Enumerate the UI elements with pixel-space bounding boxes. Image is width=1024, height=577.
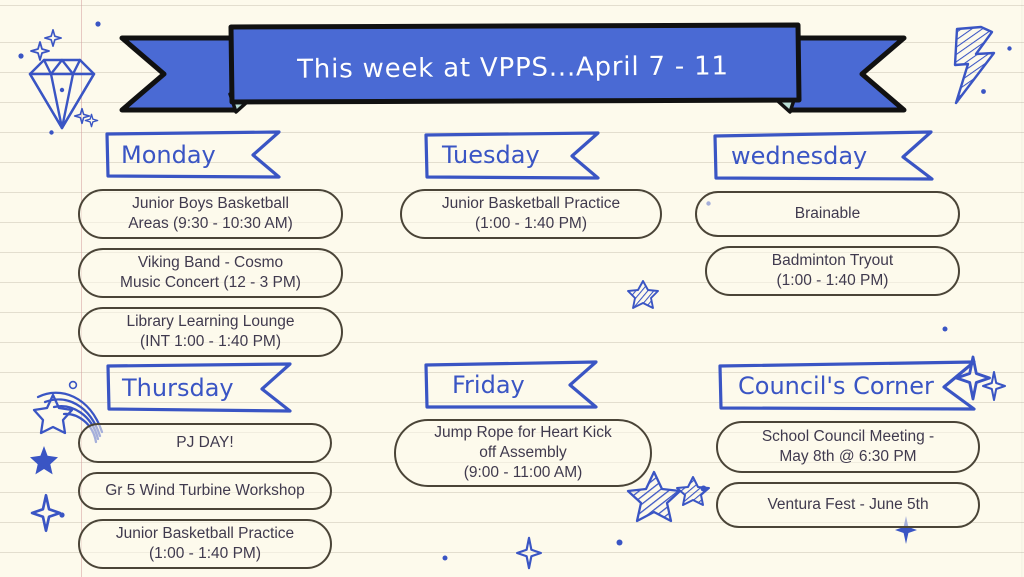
column-wednesday: wednesday Brainable Badminton Tryout (1:… bbox=[695, 130, 960, 305]
event-line: May 8th @ 6:30 PM bbox=[762, 447, 934, 467]
event-line: Viking Band - Cosmo bbox=[120, 253, 301, 273]
event-pill[interactable]: Jump Rope for Heart Kick off Assembly (9… bbox=[394, 419, 652, 487]
event-pill[interactable]: Gr 5 Wind Turbine Workshop bbox=[78, 472, 332, 510]
event-line: (1:00 - 1:40 PM) bbox=[116, 544, 294, 564]
event-line: Junior Basketball Practice bbox=[116, 524, 294, 544]
day-header-tuesday: Tuesday bbox=[422, 130, 602, 180]
day-header-friday: Friday bbox=[422, 360, 600, 410]
column-thursday: Thursday PJ DAY! Gr 5 Wind Turbine Works… bbox=[78, 362, 332, 577]
event-line: Gr 5 Wind Turbine Workshop bbox=[105, 481, 305, 501]
event-line: Library Learning Lounge bbox=[126, 312, 294, 332]
event-pill[interactable]: Viking Band - Cosmo Music Concert (12 - … bbox=[78, 248, 343, 298]
event-pill[interactable]: Junior Basketball Practice (1:00 - 1:40 … bbox=[400, 189, 662, 239]
day-header-label: Council's Corner bbox=[716, 360, 963, 412]
schedule-grid: Monday Junior Boys Basketball Areas (9:3… bbox=[0, 0, 1024, 577]
event-pill[interactable]: Badminton Tryout (1:00 - 1:40 PM) bbox=[705, 246, 960, 296]
event-line: (9:00 - 11:00 AM) bbox=[434, 463, 611, 483]
event-line: Brainable bbox=[795, 204, 861, 224]
event-line: PJ DAY! bbox=[176, 433, 233, 453]
event-pill[interactable]: Brainable bbox=[695, 191, 960, 237]
event-line: Jump Rope for Heart Kick bbox=[434, 423, 611, 443]
event-pill[interactable]: PJ DAY! bbox=[78, 423, 332, 463]
event-pill[interactable]: Junior Basketball Practice (1:00 - 1:40 … bbox=[78, 519, 332, 569]
column-tuesday: Tuesday Junior Basketball Practice (1:00… bbox=[400, 130, 662, 248]
event-line: Junior Basketball Practice bbox=[442, 194, 620, 214]
event-line: School Council Meeting - bbox=[762, 427, 934, 447]
event-line: Badminton Tryout bbox=[772, 251, 893, 271]
event-pill[interactable]: Library Learning Lounge (INT 1:00 - 1:40… bbox=[78, 307, 343, 357]
event-pill[interactable]: School Council Meeting - May 8th @ 6:30 … bbox=[716, 421, 980, 473]
day-header-thursday: Thursday bbox=[104, 362, 294, 414]
event-line: Music Concert (12 - 3 PM) bbox=[120, 273, 301, 293]
event-line: off Assembly bbox=[434, 443, 611, 463]
day-header-monday: Monday bbox=[103, 130, 283, 180]
day-header-label: Tuesday bbox=[422, 130, 592, 180]
day-header-councils-corner: Council's Corner bbox=[716, 360, 978, 412]
event-pill[interactable]: Junior Boys Basketball Areas (9:30 - 10:… bbox=[78, 189, 343, 239]
column-monday: Monday Junior Boys Basketball Areas (9:3… bbox=[78, 130, 343, 366]
column-friday: Friday Jump Rope for Heart Kick off Asse… bbox=[394, 360, 652, 496]
event-line: Junior Boys Basketball bbox=[128, 194, 293, 214]
day-header-wednesday: wednesday bbox=[711, 130, 936, 182]
event-line: (1:00 - 1:40 PM) bbox=[442, 214, 620, 234]
event-line: Ventura Fest - June 5th bbox=[767, 495, 928, 515]
day-header-label: Friday bbox=[422, 360, 592, 410]
event-line: Areas (9:30 - 10:30 AM) bbox=[128, 214, 293, 234]
weekly-schedule-poster: This week at VPPS...April 7 - 11 Monday … bbox=[0, 0, 1024, 577]
column-councils-corner: Council's Corner School Council Meeting … bbox=[712, 360, 980, 537]
event-line: (1:00 - 1:40 PM) bbox=[772, 271, 893, 291]
event-line: (INT 1:00 - 1:40 PM) bbox=[126, 332, 294, 352]
day-header-label: wednesday bbox=[711, 130, 921, 182]
day-header-label: Monday bbox=[103, 130, 271, 180]
event-pill[interactable]: Ventura Fest - June 5th bbox=[716, 482, 980, 528]
day-header-label: Thursday bbox=[104, 362, 282, 414]
